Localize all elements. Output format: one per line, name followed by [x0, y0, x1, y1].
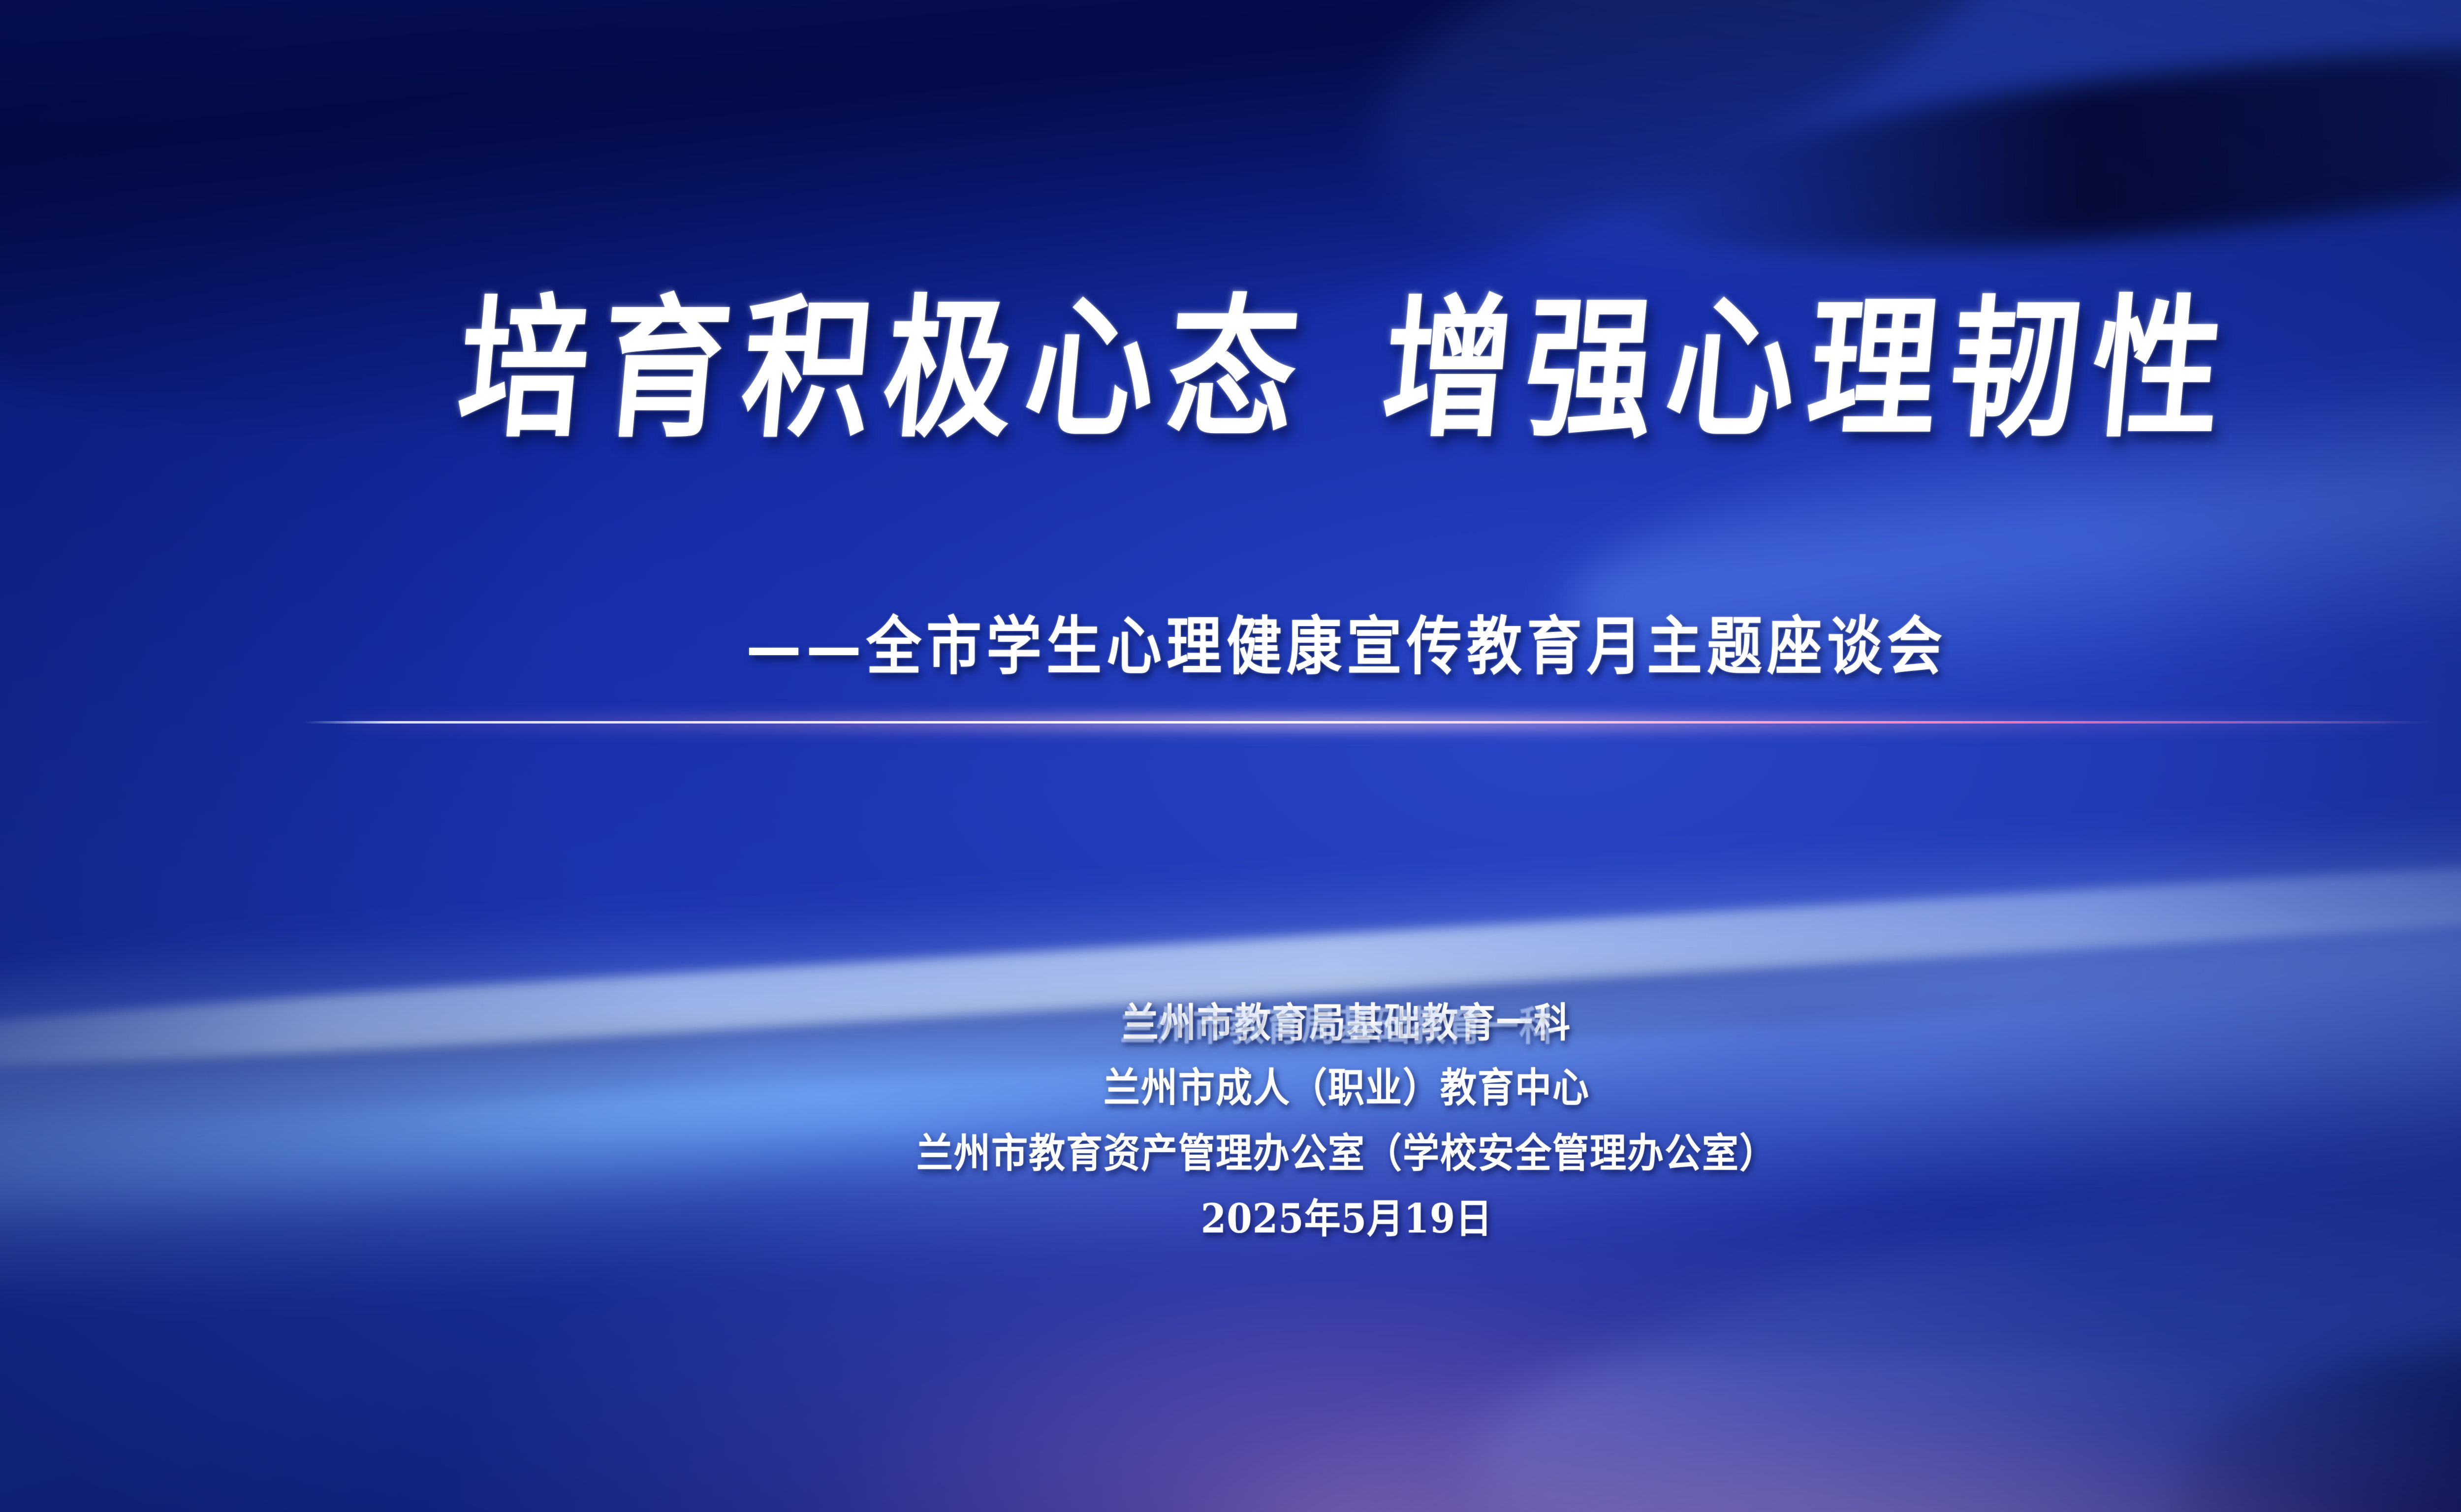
divider-line	[304, 721, 2435, 724]
title-segment-left: 培育积极心态	[452, 287, 1317, 451]
organizer-line-2: 兰州市成人（职业）教育中心	[1104, 1056, 1590, 1114]
slide-title: 培育积极心态 增强心理韧性	[0, 299, 2461, 439]
organizer-block: 兰州市教育局基础教育一科 兰州市教育局基础教育一科 兰州市成人（职业）教育中心 …	[0, 993, 2461, 1242]
presentation-slide: 培育积极心态 增强心理韧性 ——全市学生心理健康宣传教育月主题座谈会 兰州市教育…	[0, 0, 2461, 1512]
organizer-line-1: 兰州市教育局基础教育一科 兰州市教育局基础教育一科	[1122, 991, 1571, 1049]
slide-content: 培育积极心态 增强心理韧性 ——全市学生心理健康宣传教育月主题座谈会 兰州市教育…	[0, 0, 2461, 1512]
glowing-divider	[304, 716, 2435, 729]
title-segment-right: 增强心理韧性	[1376, 287, 2241, 451]
organizer-line-3: 兰州市教育资产管理办公室（学校安全管理办公室）	[916, 1121, 1777, 1179]
organizer-line-1-ghost-artifact: 兰州市教育局基础教育一科	[1120, 994, 1556, 1052]
slide-subtitle: ——全市学生心理健康宣传教育月主题座谈会	[0, 596, 2461, 687]
slide-date: 2025年5月19日	[1201, 1187, 1492, 1245]
